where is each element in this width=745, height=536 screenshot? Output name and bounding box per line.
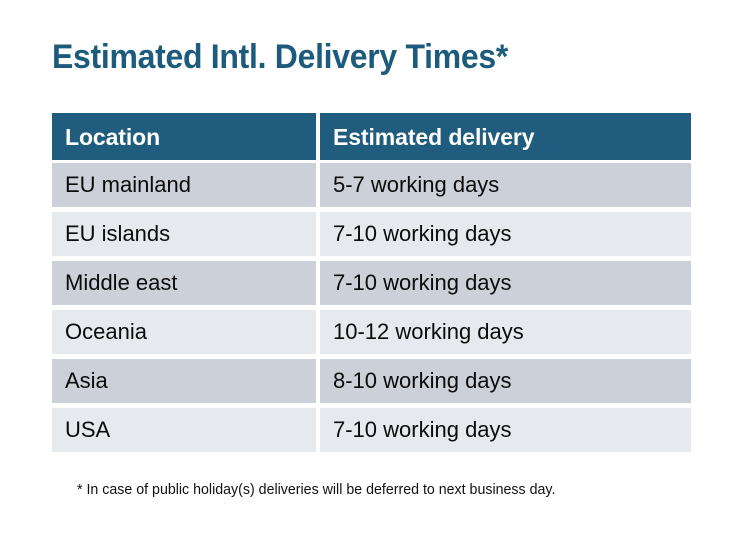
- cell-estimated-delivery: 10-12 working days: [320, 310, 691, 354]
- table-row: Asia 8-10 working days: [52, 359, 691, 403]
- delivery-times-card: Estimated Intl. Delivery Times* Location…: [0, 0, 745, 536]
- cell-location: EU mainland: [52, 163, 316, 207]
- table-row: EU islands 7-10 working days: [52, 212, 691, 256]
- cell-estimated-delivery: 7-10 working days: [320, 212, 691, 256]
- delivery-times-table: Location Estimated delivery EU mainland …: [52, 113, 691, 452]
- table-row: USA 7-10 working days: [52, 408, 691, 452]
- page-title: Estimated Intl. Delivery Times*: [52, 36, 508, 78]
- table-row: Oceania 10-12 working days: [52, 310, 691, 354]
- cell-location: Asia: [52, 359, 316, 403]
- cell-estimated-delivery: 7-10 working days: [320, 261, 691, 305]
- footnote-text: * In case of public holiday(s) deliverie…: [77, 481, 555, 500]
- column-header-location: Location: [52, 113, 316, 160]
- cell-estimated-delivery: 7-10 working days: [320, 408, 691, 452]
- cell-estimated-delivery: 8-10 working days: [320, 359, 691, 403]
- table-row: EU mainland 5-7 working days: [52, 163, 691, 207]
- cell-location: Middle east: [52, 261, 316, 305]
- table-header-row: Location Estimated delivery: [52, 113, 691, 160]
- column-header-estimated-delivery: Estimated delivery: [320, 113, 691, 160]
- cell-location: USA: [52, 408, 316, 452]
- cell-estimated-delivery: 5-7 working days: [320, 163, 691, 207]
- table-row: Middle east 7-10 working days: [52, 261, 691, 305]
- cell-location: EU islands: [52, 212, 316, 256]
- cell-location: Oceania: [52, 310, 316, 354]
